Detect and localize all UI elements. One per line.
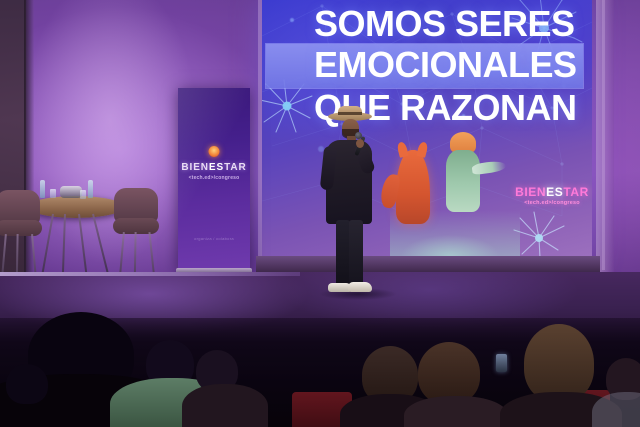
banner-tagline: <tech.ed>/congreso bbox=[178, 175, 250, 181]
audience-silhouettes bbox=[0, 318, 640, 427]
speaker-left-leg bbox=[336, 220, 350, 286]
fox-illustration bbox=[396, 150, 430, 224]
microphone-head bbox=[355, 132, 362, 139]
hat-band bbox=[338, 112, 362, 115]
wall-edge-right bbox=[596, 0, 614, 300]
fox-ear-icon bbox=[396, 141, 408, 158]
banner-brand-suffix: TAR bbox=[224, 162, 247, 173]
audience-head bbox=[6, 364, 48, 404]
table-items-cluster bbox=[60, 186, 82, 198]
banner-brand-mid: ES bbox=[209, 162, 224, 173]
audience-shoulders bbox=[182, 384, 268, 427]
fox-ear-icon bbox=[416, 141, 428, 158]
little-prince-illustration bbox=[442, 132, 484, 228]
slide-brand-tagline: <tech.ed>/congreso bbox=[510, 200, 594, 207]
conference-stage-photo: SOMOS SERES EMOCIONALES QUE RAZONAN BIEN… bbox=[0, 0, 640, 427]
audience-shoulders bbox=[404, 396, 508, 427]
headline-line-1: SOMOS SERES bbox=[266, 4, 586, 44]
speaker-right-sneaker bbox=[348, 282, 372, 292]
stage-floor-light-strip bbox=[0, 272, 300, 276]
slide-brand-suffix: TAR bbox=[563, 185, 589, 199]
slide-headline: SOMOS SERES EMOCIONALES QUE RAZONAN bbox=[266, 4, 586, 128]
rollup-banner: BIENESTAR <tech.ed>/congreso organiza / … bbox=[178, 88, 250, 270]
audience-head bbox=[524, 324, 594, 402]
slide-brand-prefix: BIEN bbox=[515, 185, 546, 199]
slide-brand-logo: BIENESTAR <tech.ed>/congreso bbox=[510, 186, 594, 207]
water-bottle bbox=[88, 180, 93, 198]
speaker-on-stage bbox=[318, 112, 388, 302]
slide-artwork bbox=[390, 128, 520, 256]
slide-brand-name: BIENESTAR bbox=[510, 186, 594, 199]
speaker-right-leg bbox=[349, 220, 363, 286]
attendee-phone bbox=[496, 354, 507, 372]
prince-body bbox=[446, 150, 480, 212]
stool-backrest bbox=[114, 188, 158, 222]
drinking-glass bbox=[80, 190, 86, 199]
banner-brand-name: BIENESTAR bbox=[178, 162, 250, 173]
headline-line-2: EMOCIONALES bbox=[266, 44, 583, 88]
banner-brand-prefix: BIEN bbox=[181, 162, 209, 173]
slide-brand-mid: ES bbox=[546, 185, 563, 199]
speaker-hand bbox=[356, 139, 364, 148]
stool-backrest bbox=[0, 190, 40, 224]
banner-footer-text: organiza / colabora bbox=[178, 236, 250, 241]
headline-line-3: QUE RAZONAN bbox=[266, 88, 586, 128]
sun-emblem-icon bbox=[209, 146, 220, 157]
audience-head bbox=[418, 342, 480, 404]
